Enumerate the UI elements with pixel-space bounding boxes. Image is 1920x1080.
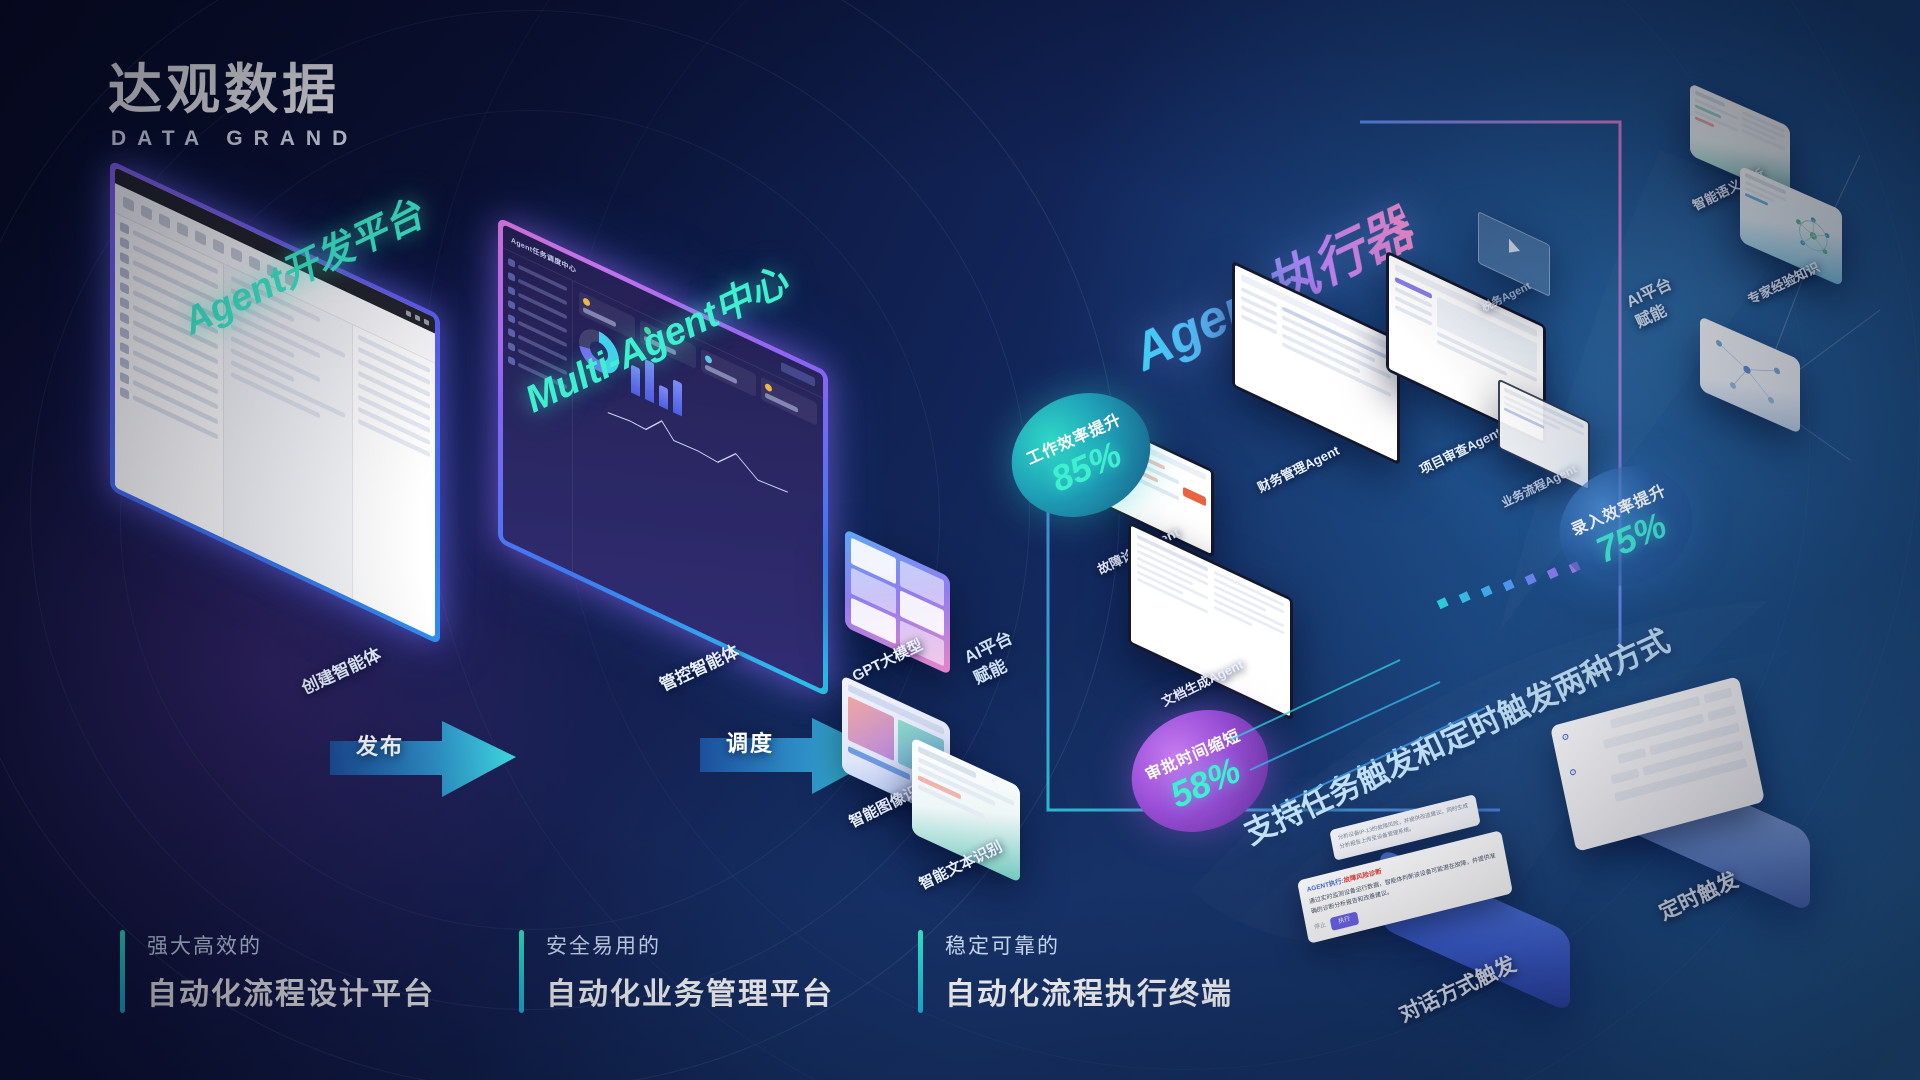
caption-sub: 稳定可靠的	[945, 930, 1233, 960]
brand-name-cn: 达观数据	[108, 62, 358, 119]
brand-logo: 达观数据 DATA GRAND	[108, 62, 358, 151]
caption-sub: 安全易用的	[546, 930, 834, 960]
schedule-field-label	[1566, 746, 1599, 755]
infographic-canvas: 达观数据 DATA GRAND	[0, 0, 1920, 1080]
flow-arrow-publish-label: 发布	[356, 729, 404, 761]
caption-accent-bar	[918, 930, 923, 1013]
caption-item: 稳定可靠的 自动化流程执行终端	[918, 930, 1317, 1013]
caption-main: 自动化流程执行终端	[945, 969, 1233, 1013]
radio-icon[interactable]	[1562, 733, 1569, 740]
schedule-field-label	[1574, 781, 1607, 790]
schedule-field-label	[1581, 761, 1614, 770]
caption-item: 安全易用的 自动化业务管理平台	[519, 930, 918, 1013]
schedule-field-label	[1573, 726, 1606, 735]
brand-name-en: DATA GRAND	[108, 127, 358, 151]
file-tree-pane	[115, 213, 224, 538]
caption-sub: 强大高效的	[147, 930, 435, 960]
radio-icon[interactable]	[1569, 768, 1576, 775]
properties-pane	[352, 325, 435, 638]
flow-arrow-dispatch-label: 调度	[726, 726, 774, 758]
caption-accent-bar	[120, 930, 125, 1013]
caption-main: 自动化流程设计平台	[147, 969, 435, 1013]
schedule-field-label	[1577, 799, 1610, 808]
caption-item: 强大高效的 自动化流程设计平台	[120, 930, 519, 1013]
bottom-captions: 强大高效的 自动化流程设计平台 安全易用的 自动化业务管理平台 稳定可靠的 自动…	[120, 930, 1317, 1013]
caption-accent-bar	[519, 930, 524, 1013]
schedule-input[interactable]	[1617, 748, 1646, 764]
caption-main: 自动化业务管理平台	[546, 969, 834, 1013]
schedule-input[interactable]	[1704, 687, 1733, 703]
schedule-input[interactable]	[1610, 768, 1639, 784]
schedule-input[interactable]	[1707, 705, 1736, 721]
play-icon	[1509, 238, 1520, 257]
execute-button[interactable]: 执行	[1330, 911, 1360, 931]
